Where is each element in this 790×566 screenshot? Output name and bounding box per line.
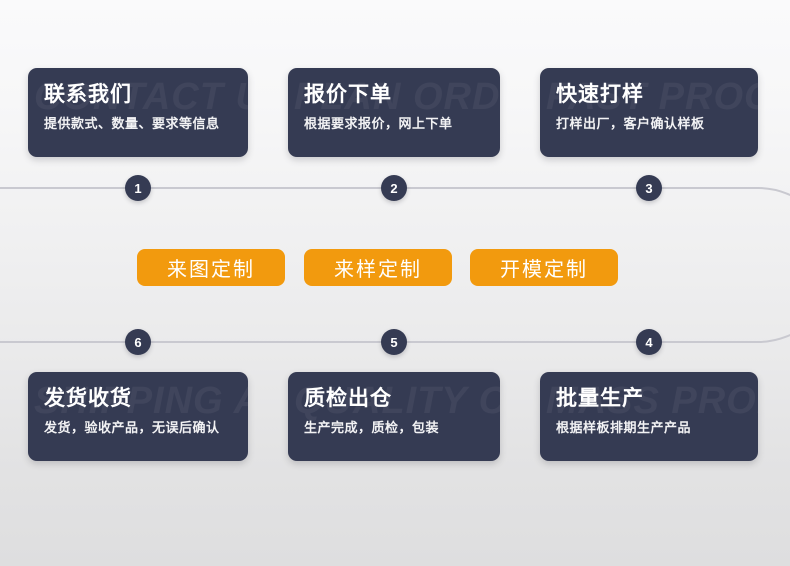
card-description: 提供款式、数量、要求等信息	[44, 116, 232, 132]
card-title: 质检出仓	[304, 386, 484, 411]
card-description: 发货，验收产品，无误后确认	[44, 420, 232, 436]
step-badge-2: 2	[381, 175, 407, 201]
process-flow-infographic: CONTACT US 联系我们 提供款式、数量、要求等信息 PLAN ORDER…	[0, 0, 790, 566]
card-title: 批量生产	[556, 386, 742, 411]
card-title: 快速打样	[556, 82, 742, 107]
step-number: 2	[390, 181, 397, 196]
process-card-mass-production[interactable]: MASS PRODUCTION 批量生产 根据样板排期生产产品	[540, 372, 758, 461]
process-card-quote-order[interactable]: PLAN ORDER 报价下单 根据要求报价，网上下单	[288, 68, 500, 157]
process-card-shipping-receiving[interactable]: SHIPPING AND RECEIVING 发货收货 发货，验收产品，无误后确…	[28, 372, 248, 461]
step-number: 3	[645, 181, 652, 196]
pill-custom-by-drawing[interactable]: 来图定制	[137, 249, 285, 286]
step-badge-6: 6	[125, 329, 151, 355]
card-description: 生产完成，质检，包装	[304, 420, 484, 436]
card-title: 发货收货	[44, 386, 232, 411]
process-card-fast-proofing[interactable]: FAST PROOFING 快速打样 打样出厂，客户确认样板	[540, 68, 758, 157]
step-badge-1: 1	[125, 175, 151, 201]
step-number: 1	[134, 181, 141, 196]
pill-custom-by-sample[interactable]: 来样定制	[304, 249, 452, 286]
card-title: 联系我们	[44, 82, 232, 107]
step-number: 6	[134, 335, 141, 350]
process-card-contact[interactable]: CONTACT US 联系我们 提供款式、数量、要求等信息	[28, 68, 248, 157]
process-card-quality-control[interactable]: QUALITY CONTROL 质检出仓 生产完成，质检，包装	[288, 372, 500, 461]
card-description: 根据样板排期生产产品	[556, 420, 742, 436]
card-description: 打样出厂，客户确认样板	[556, 116, 742, 132]
step-badge-4: 4	[636, 329, 662, 355]
pill-custom-by-mold[interactable]: 开模定制	[470, 249, 618, 286]
card-title: 报价下单	[304, 82, 484, 107]
step-number: 4	[645, 335, 652, 350]
card-description: 根据要求报价，网上下单	[304, 116, 484, 132]
step-number: 5	[390, 335, 397, 350]
step-badge-5: 5	[381, 329, 407, 355]
step-badge-3: 3	[636, 175, 662, 201]
